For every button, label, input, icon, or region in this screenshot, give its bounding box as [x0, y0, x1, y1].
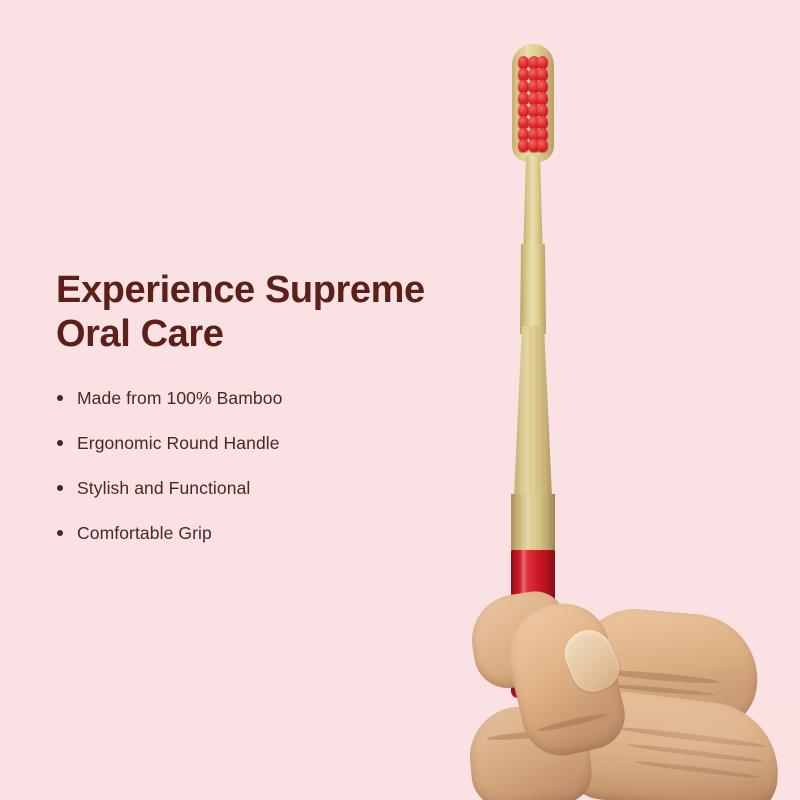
- marketing-text-panel: Experience Supreme Oral Care Made from 1…: [56, 268, 476, 544]
- hand-holding-product: [470, 586, 800, 800]
- product-toothbrush: Dencrus®: [496, 44, 570, 664]
- toothbrush-bristles: [518, 56, 548, 152]
- feature-label: Comfortable Grip: [77, 523, 212, 543]
- bullet-icon: [57, 395, 63, 401]
- bamboo-grain-texture: [510, 326, 556, 502]
- list-item: Made from 100% Bamboo: [56, 388, 476, 409]
- toothbrush-shaft: [510, 326, 556, 502]
- advertisement-canvas: Experience Supreme Oral Care Made from 1…: [0, 0, 800, 800]
- bamboo-grain-texture: [511, 494, 555, 552]
- list-item: Stylish and Functional: [56, 478, 476, 499]
- bristle-row: [518, 139, 548, 152]
- list-item: Ergonomic Round Handle: [56, 433, 476, 454]
- feature-list: Made from 100% Bamboo Ergonomic Round Ha…: [56, 388, 476, 544]
- feature-label: Stylish and Functional: [77, 478, 250, 498]
- toothbrush-neck-lower: [520, 244, 546, 334]
- toothbrush-lower-bamboo: [511, 494, 555, 552]
- feature-label: Ergonomic Round Handle: [77, 433, 280, 453]
- page-title: Experience Supreme Oral Care: [56, 268, 476, 356]
- bullet-icon: [57, 530, 63, 536]
- feature-label: Made from 100% Bamboo: [77, 388, 282, 408]
- list-item: Comfortable Grip: [56, 523, 476, 544]
- bullet-icon: [57, 440, 63, 446]
- bullet-icon: [57, 485, 63, 491]
